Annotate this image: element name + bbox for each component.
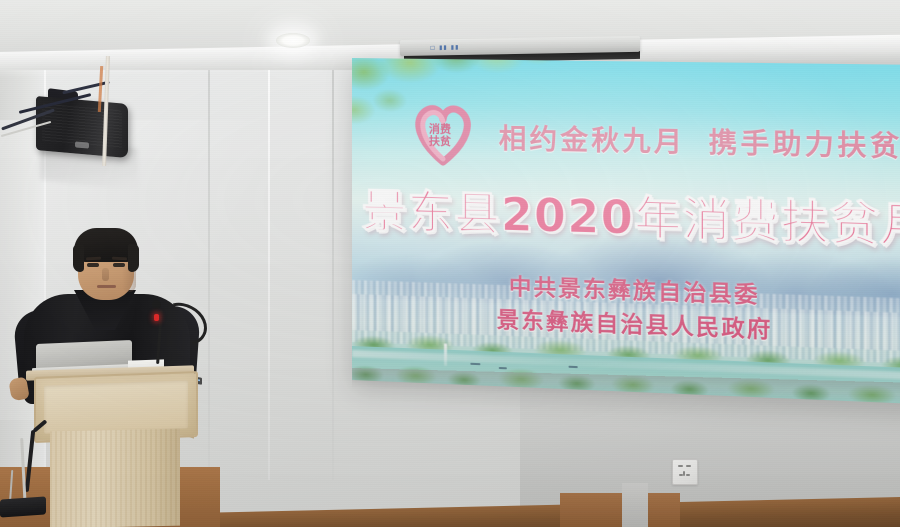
door-gap <box>622 483 648 527</box>
podium-wood-grain <box>50 429 180 527</box>
speaker-badge <box>75 141 89 148</box>
ceiling-downlight-icon <box>276 33 310 48</box>
socket-slot <box>686 474 690 476</box>
microphone-indicator-light <box>154 314 159 321</box>
logo-text: 消费 扶贫 <box>422 123 458 147</box>
presenter-hair-side <box>128 244 139 272</box>
podium-front-inset <box>44 380 188 433</box>
socket-slot <box>686 465 691 467</box>
presenter-hair-side <box>73 244 84 272</box>
presenter-eye <box>87 263 99 267</box>
podium-body <box>50 429 180 527</box>
wall-panel-seam <box>268 60 270 480</box>
wall-socket-icon[interactable] <box>672 459 698 485</box>
microphone-head-icon <box>152 300 161 309</box>
socket-slot <box>678 465 683 467</box>
conference-room-scene: ◻ ▮▮ ▮▮ 消费 扶贫 <box>0 0 900 527</box>
control-led <box>198 379 200 381</box>
wall-panel-seam <box>208 60 210 480</box>
screen-surface: 消费 扶贫 相约金秋九月携手助力扶贫 景东县2020年消费扶贫月活动启动仪式 中… <box>352 58 900 404</box>
screen-housing-label: ◻ ▮▮ ▮▮ <box>430 44 459 52</box>
presenter-eye <box>113 263 125 267</box>
wooden-floor-right <box>560 493 680 527</box>
projection-screen: 消费 扶贫 相约金秋九月携手助力扶贫 景东县2020年消费扶贫月活动启动仪式 中… <box>352 58 900 404</box>
tagline-right: 携手助力扶贫 <box>709 127 900 163</box>
presenter-nose <box>102 268 109 281</box>
floor-device <box>0 496 46 517</box>
tagline-left: 相约金秋九月 <box>499 124 686 159</box>
presenter-mouth <box>97 285 116 288</box>
socket-slot <box>679 474 683 476</box>
socket-slot <box>683 471 685 476</box>
consumption-poverty-alleviation-heart-logo: 消费 扶贫 <box>410 101 477 169</box>
wall-panel-seam <box>332 60 334 480</box>
logo-line-2: 扶贫 <box>422 135 458 147</box>
